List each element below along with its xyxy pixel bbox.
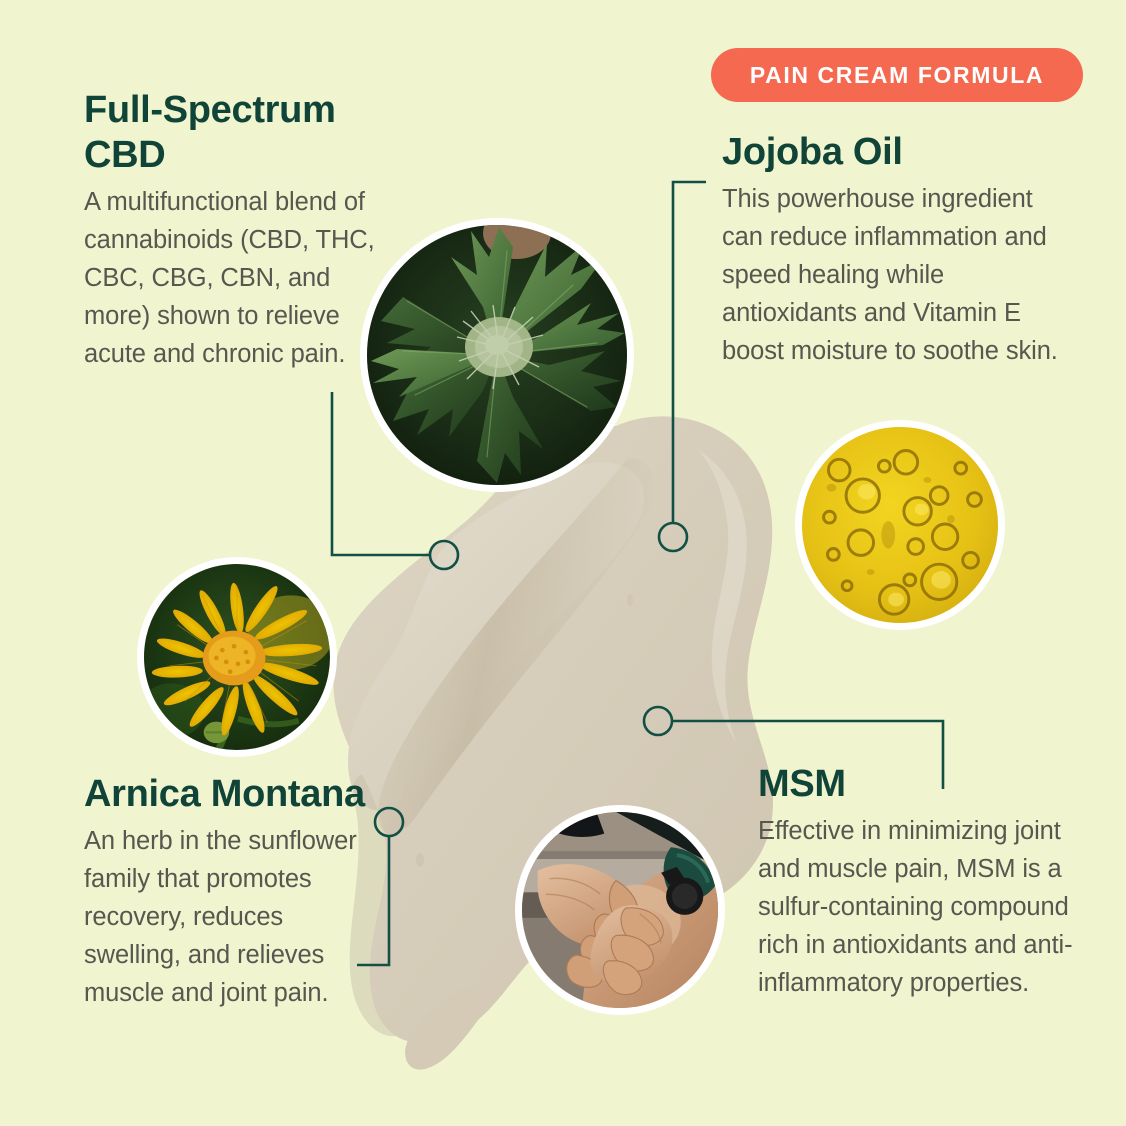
ingredient-body-arnica-montana: An herb in the sunflower family that pro… (84, 823, 372, 1013)
cannabis-plant-photo (360, 218, 634, 492)
ingredient-body-full-spectrum-cbd: A multifunctional blend of cannabinoids … (84, 184, 379, 374)
ingredient-block-msm: MSM Effective in minimizing joint and mu… (758, 762, 1098, 1003)
ingredient-block-jojoba-oil: Jojoba Oil This powerhouse ingredient ca… (722, 130, 1062, 371)
ingredient-block-arnica-montana: Arnica Montana An herb in the sunflower … (84, 772, 374, 1013)
ingredient-body-msm: Effective in minimizing joint and muscle… (758, 813, 1094, 1003)
ingredient-heading-arnica-montana: Arnica Montana (84, 772, 374, 817)
ingredient-infographic: PAIN CREAM FORMULA (0, 0, 1126, 1126)
ingredient-block-full-spectrum-cbd: Full-Spectrum CBD A multifunctional blen… (84, 88, 384, 374)
ingredient-body-jojoba-oil: This powerhouse ingredient can reduce in… (722, 181, 1058, 371)
jojoba-oil-droplets-photo (795, 420, 1005, 630)
knee-pain-hands-photo (515, 805, 725, 1015)
ingredient-heading-jojoba-oil: Jojoba Oil (722, 130, 1062, 175)
ingredient-heading-full-spectrum-cbd: Full-Spectrum CBD (84, 88, 384, 178)
pain-cream-formula-badge: PAIN CREAM FORMULA (711, 48, 1083, 102)
arnica-flower-photo (137, 557, 337, 757)
ingredient-heading-msm: MSM (758, 762, 1098, 807)
